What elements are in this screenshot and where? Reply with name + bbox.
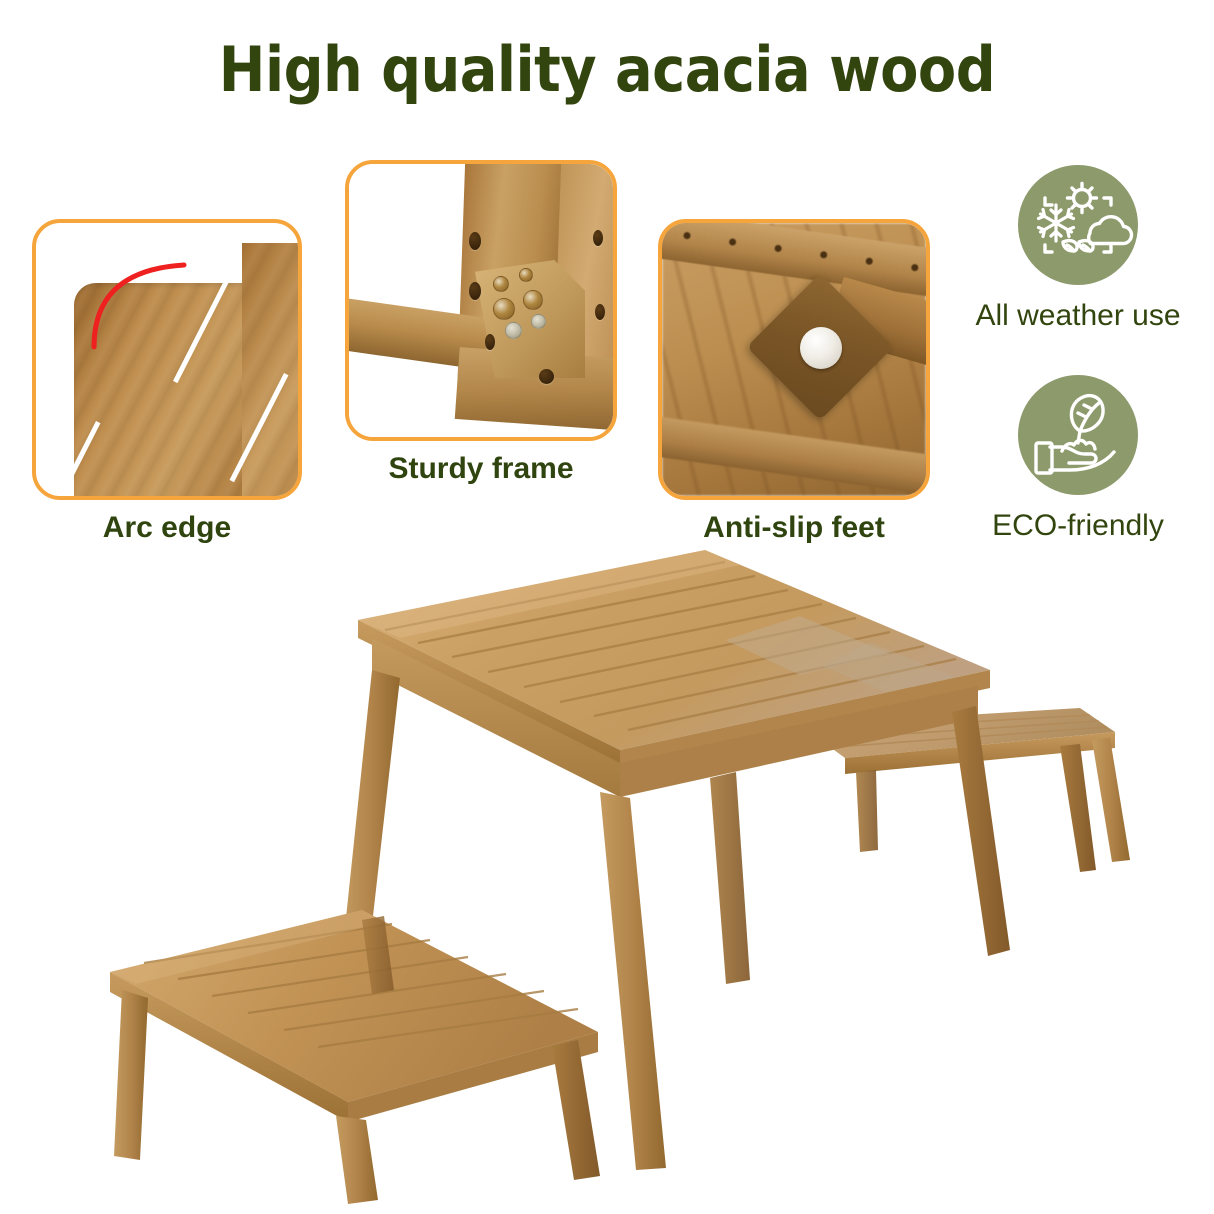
anti-slip-photo — [662, 223, 926, 496]
drill-hole — [595, 304, 605, 320]
bracket-screw — [493, 298, 515, 320]
bracket-screw — [523, 290, 543, 310]
feature-card-sturdy-frame: Sturdy frame — [345, 160, 617, 490]
page-title: High quality acacia wood — [0, 33, 1214, 106]
sturdy-frame-photo-frame — [345, 160, 617, 441]
table-leg — [758, 281, 930, 441]
arc-edge-photo-frame — [32, 219, 302, 500]
hero-product-image — [100, 520, 1130, 1210]
bench-left — [110, 910, 600, 1204]
drill-hole — [469, 232, 481, 250]
rail-hole — [865, 257, 873, 265]
eco-friendly-icon — [1018, 375, 1138, 495]
rail-hole — [683, 232, 691, 240]
arc-edge-photo — [36, 223, 298, 496]
drill-hole — [469, 282, 481, 300]
rail-hole — [820, 251, 828, 259]
anti-slip-photo-frame — [658, 219, 930, 500]
rail-hole — [729, 238, 737, 246]
bracket-screw — [519, 268, 533, 282]
arc-edge-red-marker-icon — [86, 251, 196, 361]
wood-plank-secondary — [242, 243, 302, 500]
drill-hole — [485, 334, 495, 350]
rail-hole — [911, 264, 919, 272]
drill-hole — [539, 369, 554, 384]
feature-card-anti-slip-feet: Anti-slip feet — [658, 219, 930, 549]
feature-label-sturdy-frame: Sturdy frame — [345, 452, 617, 486]
feature-card-arc-edge: Arc edge — [32, 219, 302, 549]
bracket-washer — [531, 314, 546, 329]
bracket-screw — [493, 276, 509, 292]
drill-hole — [593, 230, 603, 246]
anti-slip-pad — [800, 327, 842, 369]
bracket-washer — [505, 322, 522, 339]
all-weather-icon — [1018, 165, 1138, 285]
acacia-table-bench-set-illustration — [100, 520, 1130, 1210]
sturdy-frame-photo — [349, 164, 613, 437]
badge-label-all-weather-use: All weather use — [946, 299, 1210, 333]
rail-hole — [774, 244, 782, 252]
